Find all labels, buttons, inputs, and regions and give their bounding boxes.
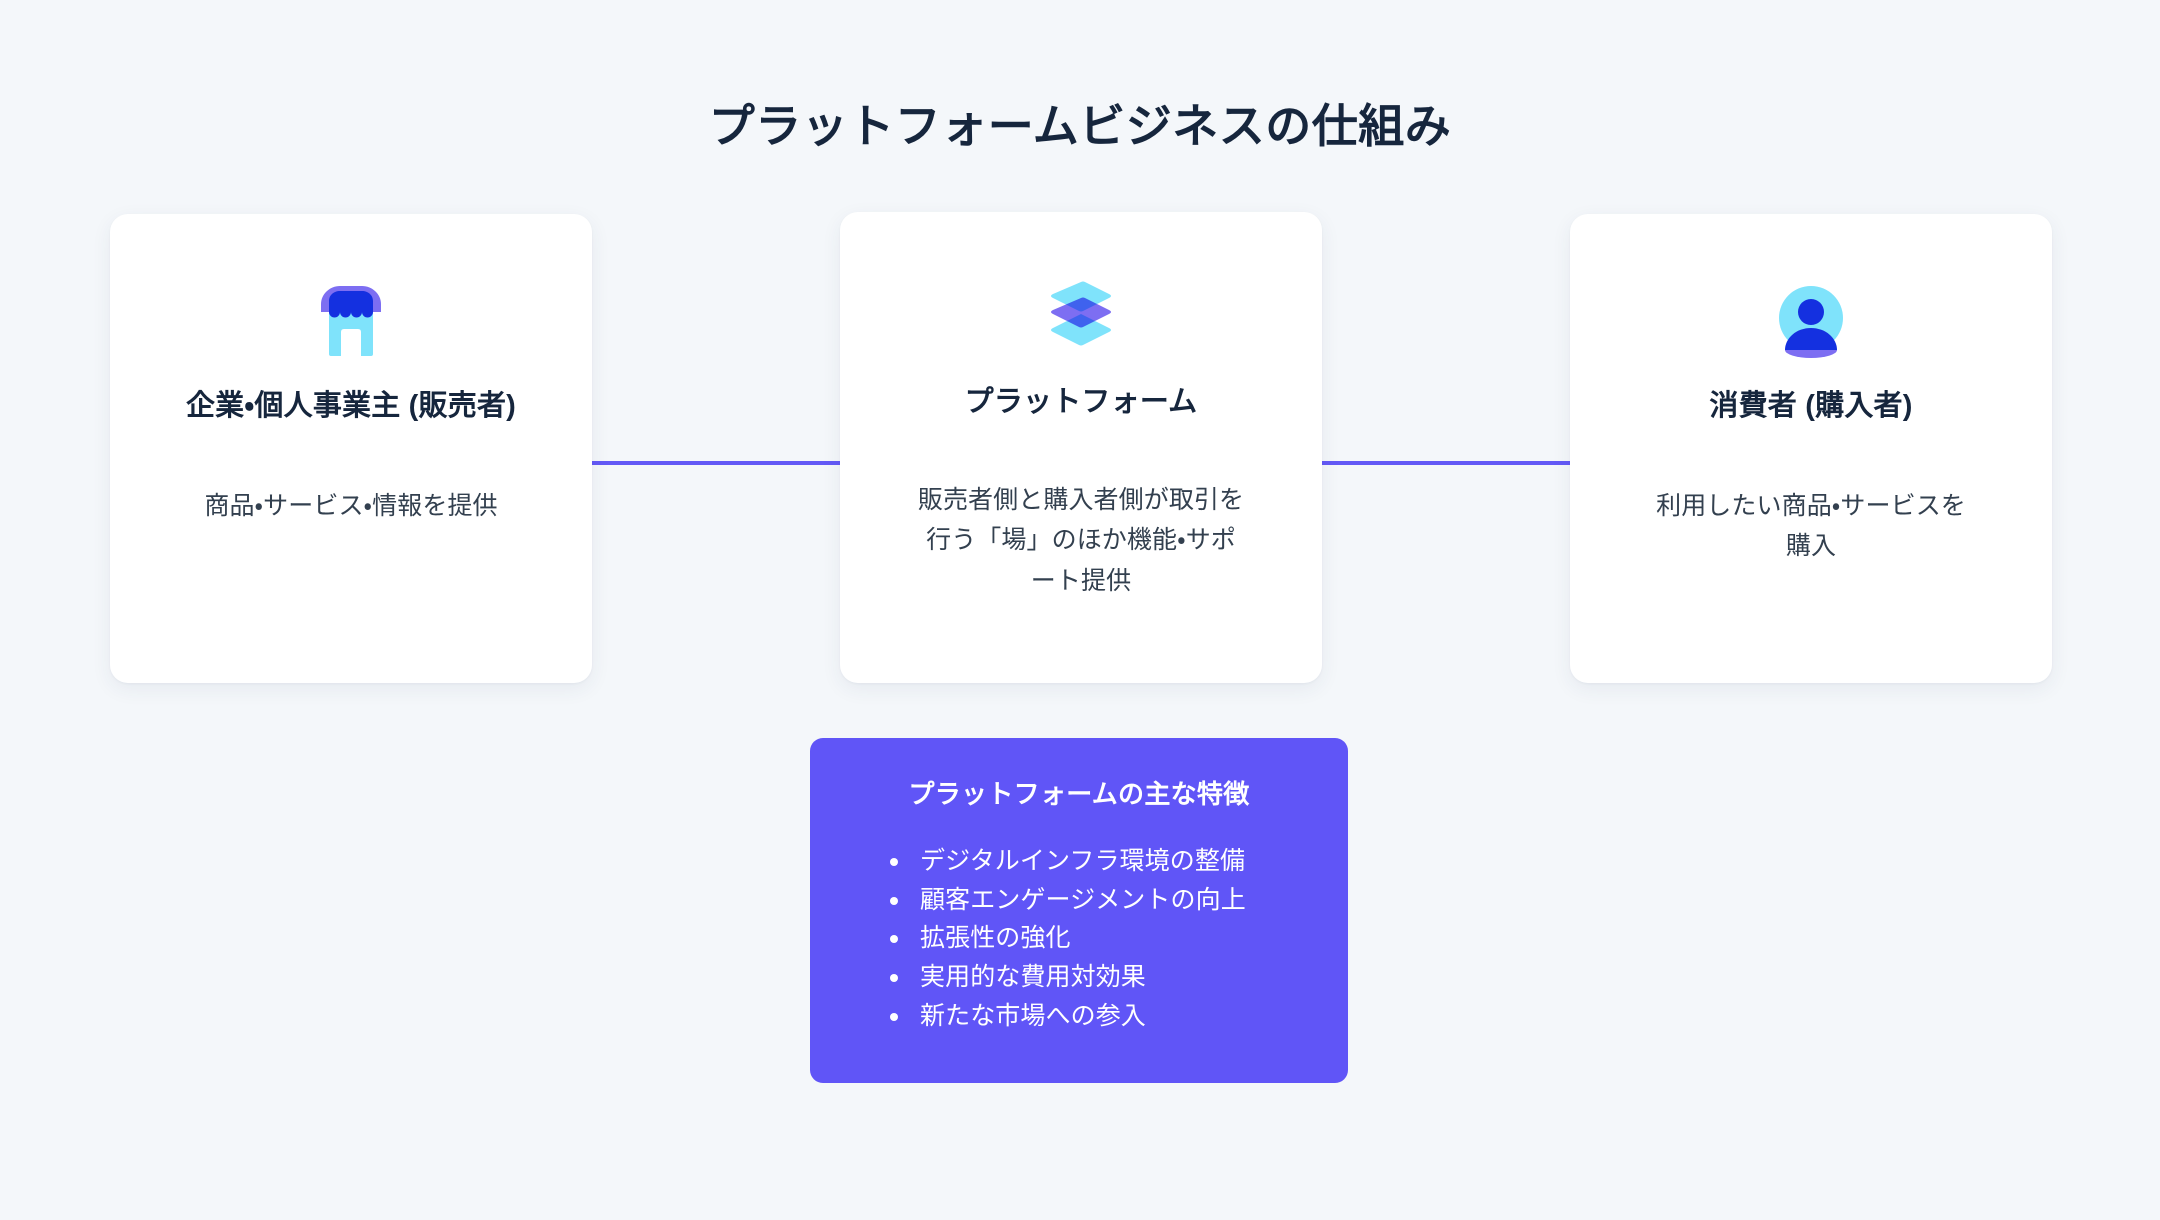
storefront-icon [303,270,399,366]
card-consumer[interactable]: 消費者 (購入者) 利用したい商品・サービスを購入 [1570,214,2052,683]
feature-list: デジタルインフラ環境の整備 顧客エンゲージメントの向上 拡張性の強化 実用的な費… [850,842,1308,1036]
card-title: 企業・個人事業主 (販売者) [186,388,516,426]
list-item: デジタルインフラ環境の整備 [886,842,1308,881]
list-item: 実用的な費用対効果 [886,958,1308,997]
card-seller[interactable]: 企業・個人事業主 (販売者) 商品・サービス・情報を提供 [110,214,592,683]
diagram-canvas: プラットフォームビジネスの仕組み 企業・個人事業主 (販売者) 商品・サービス・… [0,0,2160,1220]
list-item: 顧客エンゲージメントの向上 [886,881,1308,920]
card-description: 商品・サービス・情報を提供 [204,486,497,527]
feature-box-title: プラットフォームの主な特徴 [850,778,1308,812]
layers-icon [1033,266,1129,362]
card-description: 販売者側と購入者側が取引を行う「場」のほか機能・サポート提供 [916,480,1246,602]
feature-box: プラットフォームの主な特徴 デジタルインフラ環境の整備 顧客エンゲージメントの向… [810,738,1348,1083]
card-platform[interactable]: プラットフォーム 販売者側と購入者側が取引を行う「場」のほか機能・サポート提供 [840,212,1322,683]
list-item: 新たな市場への参入 [886,997,1308,1036]
user-avatar-icon [1763,270,1859,366]
card-title: プラットフォーム [965,384,1198,422]
list-item: 拡張性の強化 [886,919,1308,958]
card-title: 消費者 (購入者) [1709,388,1912,426]
card-description: 利用したい商品・サービスを購入 [1646,486,1976,567]
